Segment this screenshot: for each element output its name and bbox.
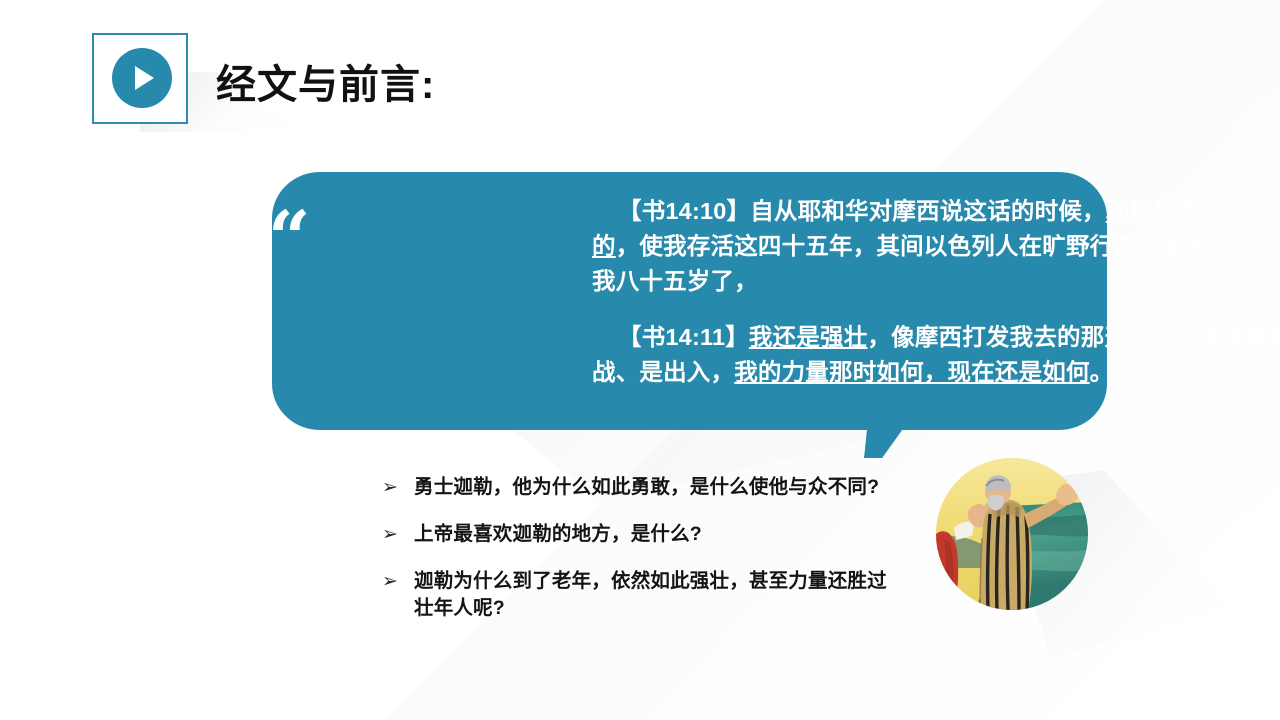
question-list: ➢ 勇士迦勒，他为什么如此勇敢，是什么使他与众不同? ➢ 上帝最喜欢迦勒的地方，… xyxy=(382,474,894,622)
verse-line-1: 【书14:10】自从耶和华对摩西说这话的时候，耶和华照他所应许的，使我存活这四十… xyxy=(592,194,1280,299)
question-text: 上帝最喜欢迦勒的地方，是什么? xyxy=(414,521,894,548)
list-item: ➢ 勇士迦勒，他为什么如此勇敢，是什么使他与众不同? xyxy=(382,474,894,501)
slide-header: 经文与前言: xyxy=(0,0,1280,150)
arrow-bullet-icon: ➢ xyxy=(382,474,414,501)
verse-2-seg-1: 我还是强壮 xyxy=(749,324,868,350)
list-item: ➢ 上帝最喜欢迦勒的地方，是什么? xyxy=(382,521,894,548)
quote-bubble: 【书14:10】自从耶和华对摩西说这话的时候，耶和华照他所应许的，使我存活这四十… xyxy=(272,172,1107,430)
question-text: 迦勒为什么到了老年，依然如此强壮，甚至力量还胜过壮年人呢? xyxy=(414,568,894,622)
arrow-bullet-icon: ➢ xyxy=(382,521,414,548)
verse-2-seg-3: 我的力量那时如何，现在还是如何 xyxy=(734,359,1090,385)
play-button-icon[interactable] xyxy=(112,48,172,108)
page-title: 经文与前言: xyxy=(216,52,435,110)
verse-line-2: 【书14:11】我还是强壮，像摩西打发我去的那天一样。无论是争战、是出入，我的力… xyxy=(592,320,1280,390)
verse-1-seg-1: 自从耶和华对摩西说这话的时候， xyxy=(750,198,1106,224)
quote-bubble-text: 【书14:10】自从耶和华对摩西说这话的时候，耶和华照他所应许的，使我存活这四十… xyxy=(592,194,1280,390)
verse-1-reference: 【书14:10】 xyxy=(618,198,750,224)
illustration xyxy=(936,458,1088,610)
quote-mark-icon: “ xyxy=(268,210,307,269)
question-text: 勇士迦勒，他为什么如此勇敢，是什么使他与众不同? xyxy=(414,474,894,501)
list-item: ➢ 迦勒为什么到了老年，依然如此强壮，甚至力量还胜过壮年人呢? xyxy=(382,568,894,622)
quote-bubble-tail xyxy=(864,422,908,458)
verse-1-seg-3: ，使我存活这四十五年，其间以色列人在旷野行走。看哪，现今我八十五岁了， xyxy=(592,233,1279,294)
caleb-raising-arms-painting xyxy=(936,458,1088,610)
arrow-bullet-icon: ➢ xyxy=(382,568,414,595)
verse-2-reference: 【书14:11】 xyxy=(618,324,749,350)
verse-2-seg-4: 。 xyxy=(1090,359,1114,385)
